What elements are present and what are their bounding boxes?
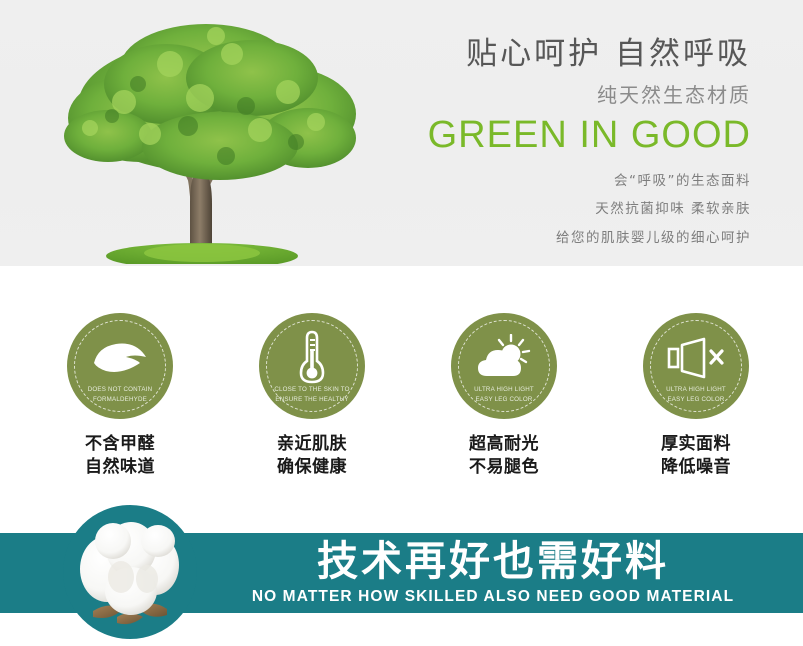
feature-label-line-1: 亲近肌肤 <box>216 433 408 456</box>
feature-item-formaldehyde-free: DOES NOT CONTAIN FORMALDEHYDE 不含甲醛 自然味道 <box>24 266 216 479</box>
badge-english-line-2: ENSURE THE HEALTHY <box>259 395 365 405</box>
features-section: DOES NOT CONTAIN FORMALDEHYDE 不含甲醛 自然味道 <box>0 266 803 506</box>
banner-english-subtitle: NO MATTER HOW SKILLED ALSO NEED GOOD MAT… <box>228 588 758 605</box>
thermometer-icon <box>259 327 365 389</box>
feature-label: 厚实面料 降低噪音 <box>600 433 792 479</box>
hero-english-title: GREEN IN GOOD <box>421 115 751 157</box>
hero-text-block: 贴心呵护 自然呼吸 纯天然生态材质 GREEN IN GOOD 会“呼吸”的生态… <box>421 36 751 252</box>
tree-illustration-svg <box>20 6 400 264</box>
feature-label-line-1: 不含甲醛 <box>24 433 216 456</box>
feature-badge-english: ULTRA HIGH LIGHT EASY LEG COLOR <box>451 385 557 405</box>
leaf-icon <box>67 327 173 389</box>
feature-item-skin-friendly: CLOSE TO THE SKIN TO ENSURE THE HEALTHY … <box>216 266 408 479</box>
hero-bullet-2: 天然抗菌抑味 柔软亲肤 <box>421 195 751 223</box>
badge-english-line-1: DOES NOT CONTAIN <box>67 385 173 395</box>
badge-english-line-2: FORMALDEHYDE <box>67 395 173 405</box>
feature-label-line-1: 超高耐光 <box>408 433 600 456</box>
cotton-image <box>63 505 197 639</box>
feature-badge-english: CLOSE TO THE SKIN TO ENSURE THE HEALTHY <box>259 385 365 405</box>
banner-chinese-headline: 技术再好也需好料 <box>228 536 758 587</box>
badge-english-line-1: ULTRA HIGH LIGHT <box>643 385 749 395</box>
speaker-mute-icon <box>643 327 749 389</box>
feature-badge-english: ULTRA HIGH LIGHT EASY LEG COLOR <box>643 385 749 405</box>
feature-label: 亲近肌肤 确保健康 <box>216 433 408 479</box>
badge-english-line-2: EASY LEG COLOR <box>643 395 749 405</box>
feature-badge: DOES NOT CONTAIN FORMALDEHYDE <box>67 313 173 419</box>
hero-bullet-3: 给您的肌肤婴儿级的细心呵护 <box>421 224 751 252</box>
feature-label-line-2: 不易腿色 <box>408 456 600 479</box>
feature-label: 不含甲醛 自然味道 <box>24 433 216 479</box>
hero-subheadline: 纯天然生态材质 <box>421 83 751 107</box>
feature-label-line-2: 自然味道 <box>24 456 216 479</box>
hero-section: 贴心呵护 自然呼吸 纯天然生态材质 GREEN IN GOOD 会“呼吸”的生态… <box>0 0 803 266</box>
feature-badge-english: DOES NOT CONTAIN FORMALDEHYDE <box>67 385 173 405</box>
feature-label-line-2: 确保健康 <box>216 456 408 479</box>
feature-badge: ULTRA HIGH LIGHT EASY LEG COLOR <box>451 313 557 419</box>
feature-badge: ULTRA HIGH LIGHT EASY LEG COLOR <box>643 313 749 419</box>
hero-bullet-1: 会“呼吸”的生态面料 <box>421 167 751 195</box>
tree-image <box>20 6 400 264</box>
badge-english-line-1: ULTRA HIGH LIGHT <box>451 385 557 395</box>
feature-item-noise-reduction: ULTRA HIGH LIGHT EASY LEG COLOR 厚实面料 降低噪… <box>600 266 792 479</box>
feature-label-line-2: 降低噪音 <box>600 456 792 479</box>
feature-label-line-1: 厚实面料 <box>600 433 792 456</box>
product-detail-page: 贴心呵护 自然呼吸 纯天然生态材质 GREEN IN GOOD 会“呼吸”的生态… <box>0 0 803 646</box>
banner-text-block: 技术再好也需好料 NO MATTER HOW SKILLED ALSO NEED… <box>228 533 758 605</box>
feature-label: 超高耐光 不易腿色 <box>408 433 600 479</box>
sun-cloud-icon <box>451 327 557 389</box>
badge-english-line-1: CLOSE TO THE SKIN TO <box>259 385 365 395</box>
hero-headline: 贴心呵护 自然呼吸 <box>421 36 751 73</box>
badge-english-line-2: EASY LEG COLOR <box>451 395 557 405</box>
cotton-boll-svg <box>63 505 197 639</box>
feature-badge: CLOSE TO THE SKIN TO ENSURE THE HEALTHY <box>259 313 365 419</box>
feature-item-light-fastness: ULTRA HIGH LIGHT EASY LEG COLOR 超高耐光 不易腿… <box>408 266 600 479</box>
